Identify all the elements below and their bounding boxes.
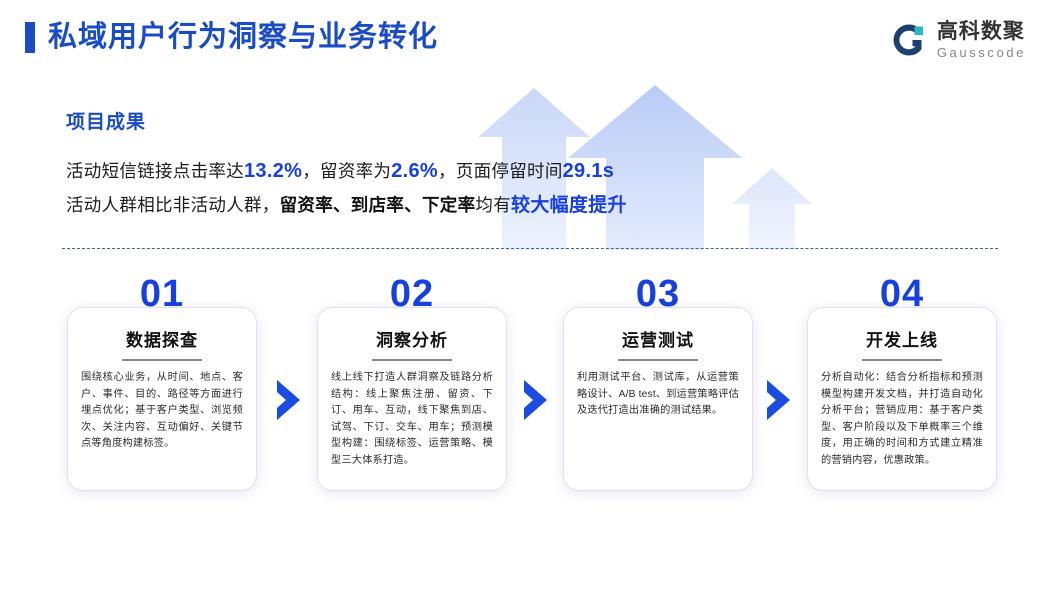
step-title-3: 运营测试 <box>577 330 739 352</box>
step-card-2[interactable]: 02 洞察分析 线上线下打造人群洞察及链路分析结构：线上聚焦注册、留资、下订、用… <box>318 308 506 490</box>
step-card-1[interactable]: 01 数据探查 围绕核心业务，从时间、地点、客户、事件、目的、路径等方面进行埋点… <box>68 308 256 490</box>
metric-dwell-time: 29.1s <box>563 160 615 182</box>
step-rule-3 <box>618 359 698 361</box>
chevron-right-icon <box>272 378 306 422</box>
slide-root: 私域用户行为洞察与业务转化 高科数聚 Gausscode 项目成果 活动短信链接… <box>0 0 1048 591</box>
results-heading: 项目成果 <box>66 110 946 136</box>
gausscode-logo-mark <box>890 21 928 59</box>
results-line2-highlight: 较大幅度提升 <box>511 195 627 216</box>
slide-header: 私域用户行为洞察与业务转化 高科数聚 Gausscode <box>0 0 1048 78</box>
results-line2-strong: 留资率、到店率、下定率 <box>280 195 476 215</box>
chevron-right-icon <box>762 378 796 422</box>
logo-text-block: 高科数聚 Gausscode <box>937 20 1026 61</box>
step-number-1: 01 <box>68 274 256 314</box>
step-number-4: 04 <box>808 274 996 314</box>
logo-name-cn: 高科数聚 <box>937 20 1026 43</box>
title-accent-bar <box>25 22 35 53</box>
results-line2-seg1: 活动人群相比非活动人群， <box>66 195 280 215</box>
step-title-4: 开发上线 <box>821 330 983 352</box>
brand-logo: 高科数聚 Gausscode <box>890 18 1026 62</box>
results-line2-seg2: 均有 <box>475 195 511 215</box>
dashed-divider <box>62 248 998 249</box>
step-desc-1: 围绕核心业务，从时间、地点、客户、事件、目的、路径等方面进行埋点优化；基于客户类… <box>81 370 243 453</box>
step-rule-4 <box>862 359 942 361</box>
results-line1-seg2: ，留资率为 <box>302 161 391 181</box>
metric-click-rate: 13.2% <box>244 160 302 182</box>
step-desc-4: 分析自动化：结合分析指标和预测模型构建开发文档，并打造自动化分析平台；营销应用：… <box>821 370 983 469</box>
step-rule-2 <box>372 359 452 361</box>
step-desc-3: 利用测试平台、测试库，从运营策略设计、A/B test、到运营策略评估及迭代打造… <box>577 370 739 420</box>
step-number-2: 02 <box>318 274 506 314</box>
step-desc-2: 线上线下打造人群洞察及链路分析结构：线上聚焦注册、留资、下订、用车、互动，线下聚… <box>331 370 493 469</box>
chevron-right-icon <box>519 378 553 422</box>
metric-lead-rate: 2.6% <box>391 160 438 182</box>
project-results-block: 项目成果 活动短信链接点击率达13.2%，留资率为2.6%，页面停留时间29.1… <box>66 110 946 223</box>
results-line1-seg3: ，页面停留时间 <box>438 161 563 181</box>
step-card-4[interactable]: 04 开发上线 分析自动化：结合分析指标和预测模型构建开发文档，并打造自动化分析… <box>808 308 996 490</box>
page-title: 私域用户行为洞察与业务转化 <box>48 17 438 57</box>
results-line1-seg1: 活动短信链接点击率达 <box>66 161 244 181</box>
results-line-1: 活动短信链接点击率达13.2%，留资率为2.6%，页面停留时间29.1s <box>66 154 946 188</box>
step-number-3: 03 <box>564 274 752 314</box>
step-title-2: 洞察分析 <box>331 330 493 352</box>
logo-name-en: Gausscode <box>937 45 1026 61</box>
process-steps: 01 数据探查 围绕核心业务，从时间、地点、客户、事件、目的、路径等方面进行埋点… <box>0 272 1048 522</box>
step-rule-1 <box>122 359 202 361</box>
results-line-2: 活动人群相比非活动人群，留资率、到店率、下定率均有较大幅度提升 <box>66 188 946 223</box>
step-title-1: 数据探查 <box>81 330 243 352</box>
step-card-3[interactable]: 03 运营测试 利用测试平台、测试库，从运营策略设计、A/B test、到运营策… <box>564 308 752 490</box>
